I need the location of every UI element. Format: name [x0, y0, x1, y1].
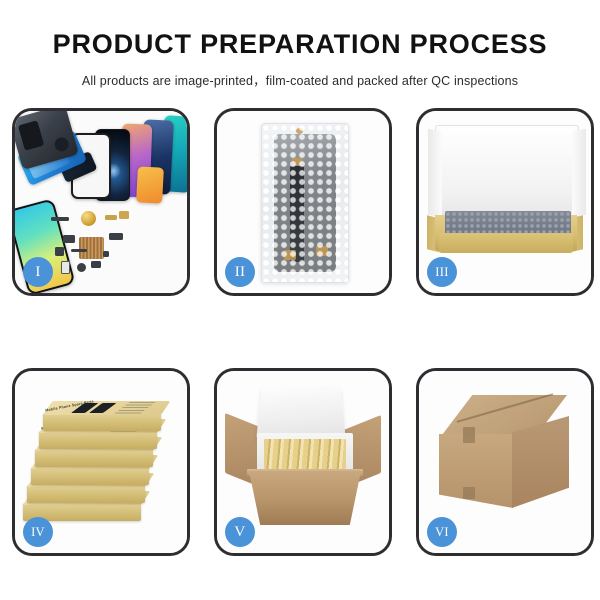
inner-box-stack: Mobile Phone Spare Parts Mobile Phone Sp… [21, 387, 185, 537]
spare-part-bracket-3 [109, 233, 123, 240]
stacked-box-2: Mobile Phone Spare Parts [39, 431, 157, 449]
process-step-panel-5[interactable]: V [214, 368, 392, 556]
step-badge-3: III [427, 257, 457, 287]
step-badge-4: IV [23, 517, 53, 547]
spare-part-strip-3 [119, 211, 129, 219]
carton-body [249, 471, 361, 525]
screen-connector-top [292, 158, 302, 165]
screen-camera-module [296, 128, 303, 134]
page-title: PRODUCT PREPARATION PROCESS [0, 30, 600, 60]
spare-part-screw [103, 251, 109, 257]
process-step-panel-6[interactable]: VI [416, 368, 594, 556]
step-badge-1: I [23, 257, 53, 287]
stacked-box-top: Mobile Phone Spare Parts [43, 413, 161, 431]
screen-connector-bottom-left [284, 250, 296, 260]
bubble-wrap-bag [261, 123, 349, 283]
screen-flex-cable [290, 166, 304, 262]
spare-part-connector [61, 261, 70, 274]
chip-array [79, 237, 104, 259]
screen-connector-bottom-right [316, 246, 328, 256]
step-badge-2: II [225, 257, 255, 287]
process-step-panel-4[interactable]: Mobile Phone Spare Parts Mobile Phone Sp… [12, 368, 190, 556]
carton-front-face [439, 434, 513, 508]
spare-part-chip-small [91, 261, 101, 268]
box-print-textlines [114, 402, 156, 414]
process-step-grid: I II III [12, 108, 590, 556]
spare-part-bracket-1 [63, 235, 75, 243]
spare-part-flex-cable [71, 249, 87, 252]
spare-part-strip-2 [105, 215, 117, 220]
page-subtitle: All products are image-printed，film-coat… [0, 70, 600, 89]
carton-tape-bottom [463, 487, 475, 499]
carton-tape-top [463, 427, 475, 443]
foam-liner-lid [256, 388, 346, 440]
stacked-box-3 [35, 449, 153, 467]
step-badge-6: VI [427, 517, 457, 547]
phone-screen-amber [136, 166, 164, 203]
packed-inner-boxes [264, 439, 346, 469]
spare-part-speaker [77, 263, 86, 272]
page-header: PRODUCT PREPARATION PROCESS All products… [0, 0, 600, 89]
gold-component-icon [81, 211, 96, 226]
spare-part-strip-1 [51, 217, 69, 221]
step-badge-5: V [225, 517, 255, 547]
process-step-panel-3[interactable]: III [416, 108, 594, 296]
process-step-panel-1[interactable]: I [12, 108, 190, 296]
stacked-box-5 [27, 485, 145, 503]
inner-box-white-lid [435, 125, 579, 221]
inner-box-front-panel [439, 233, 573, 253]
spare-part-bracket-2 [55, 247, 64, 256]
process-step-panel-2[interactable]: II [214, 108, 392, 296]
stacked-box-4 [31, 467, 149, 485]
